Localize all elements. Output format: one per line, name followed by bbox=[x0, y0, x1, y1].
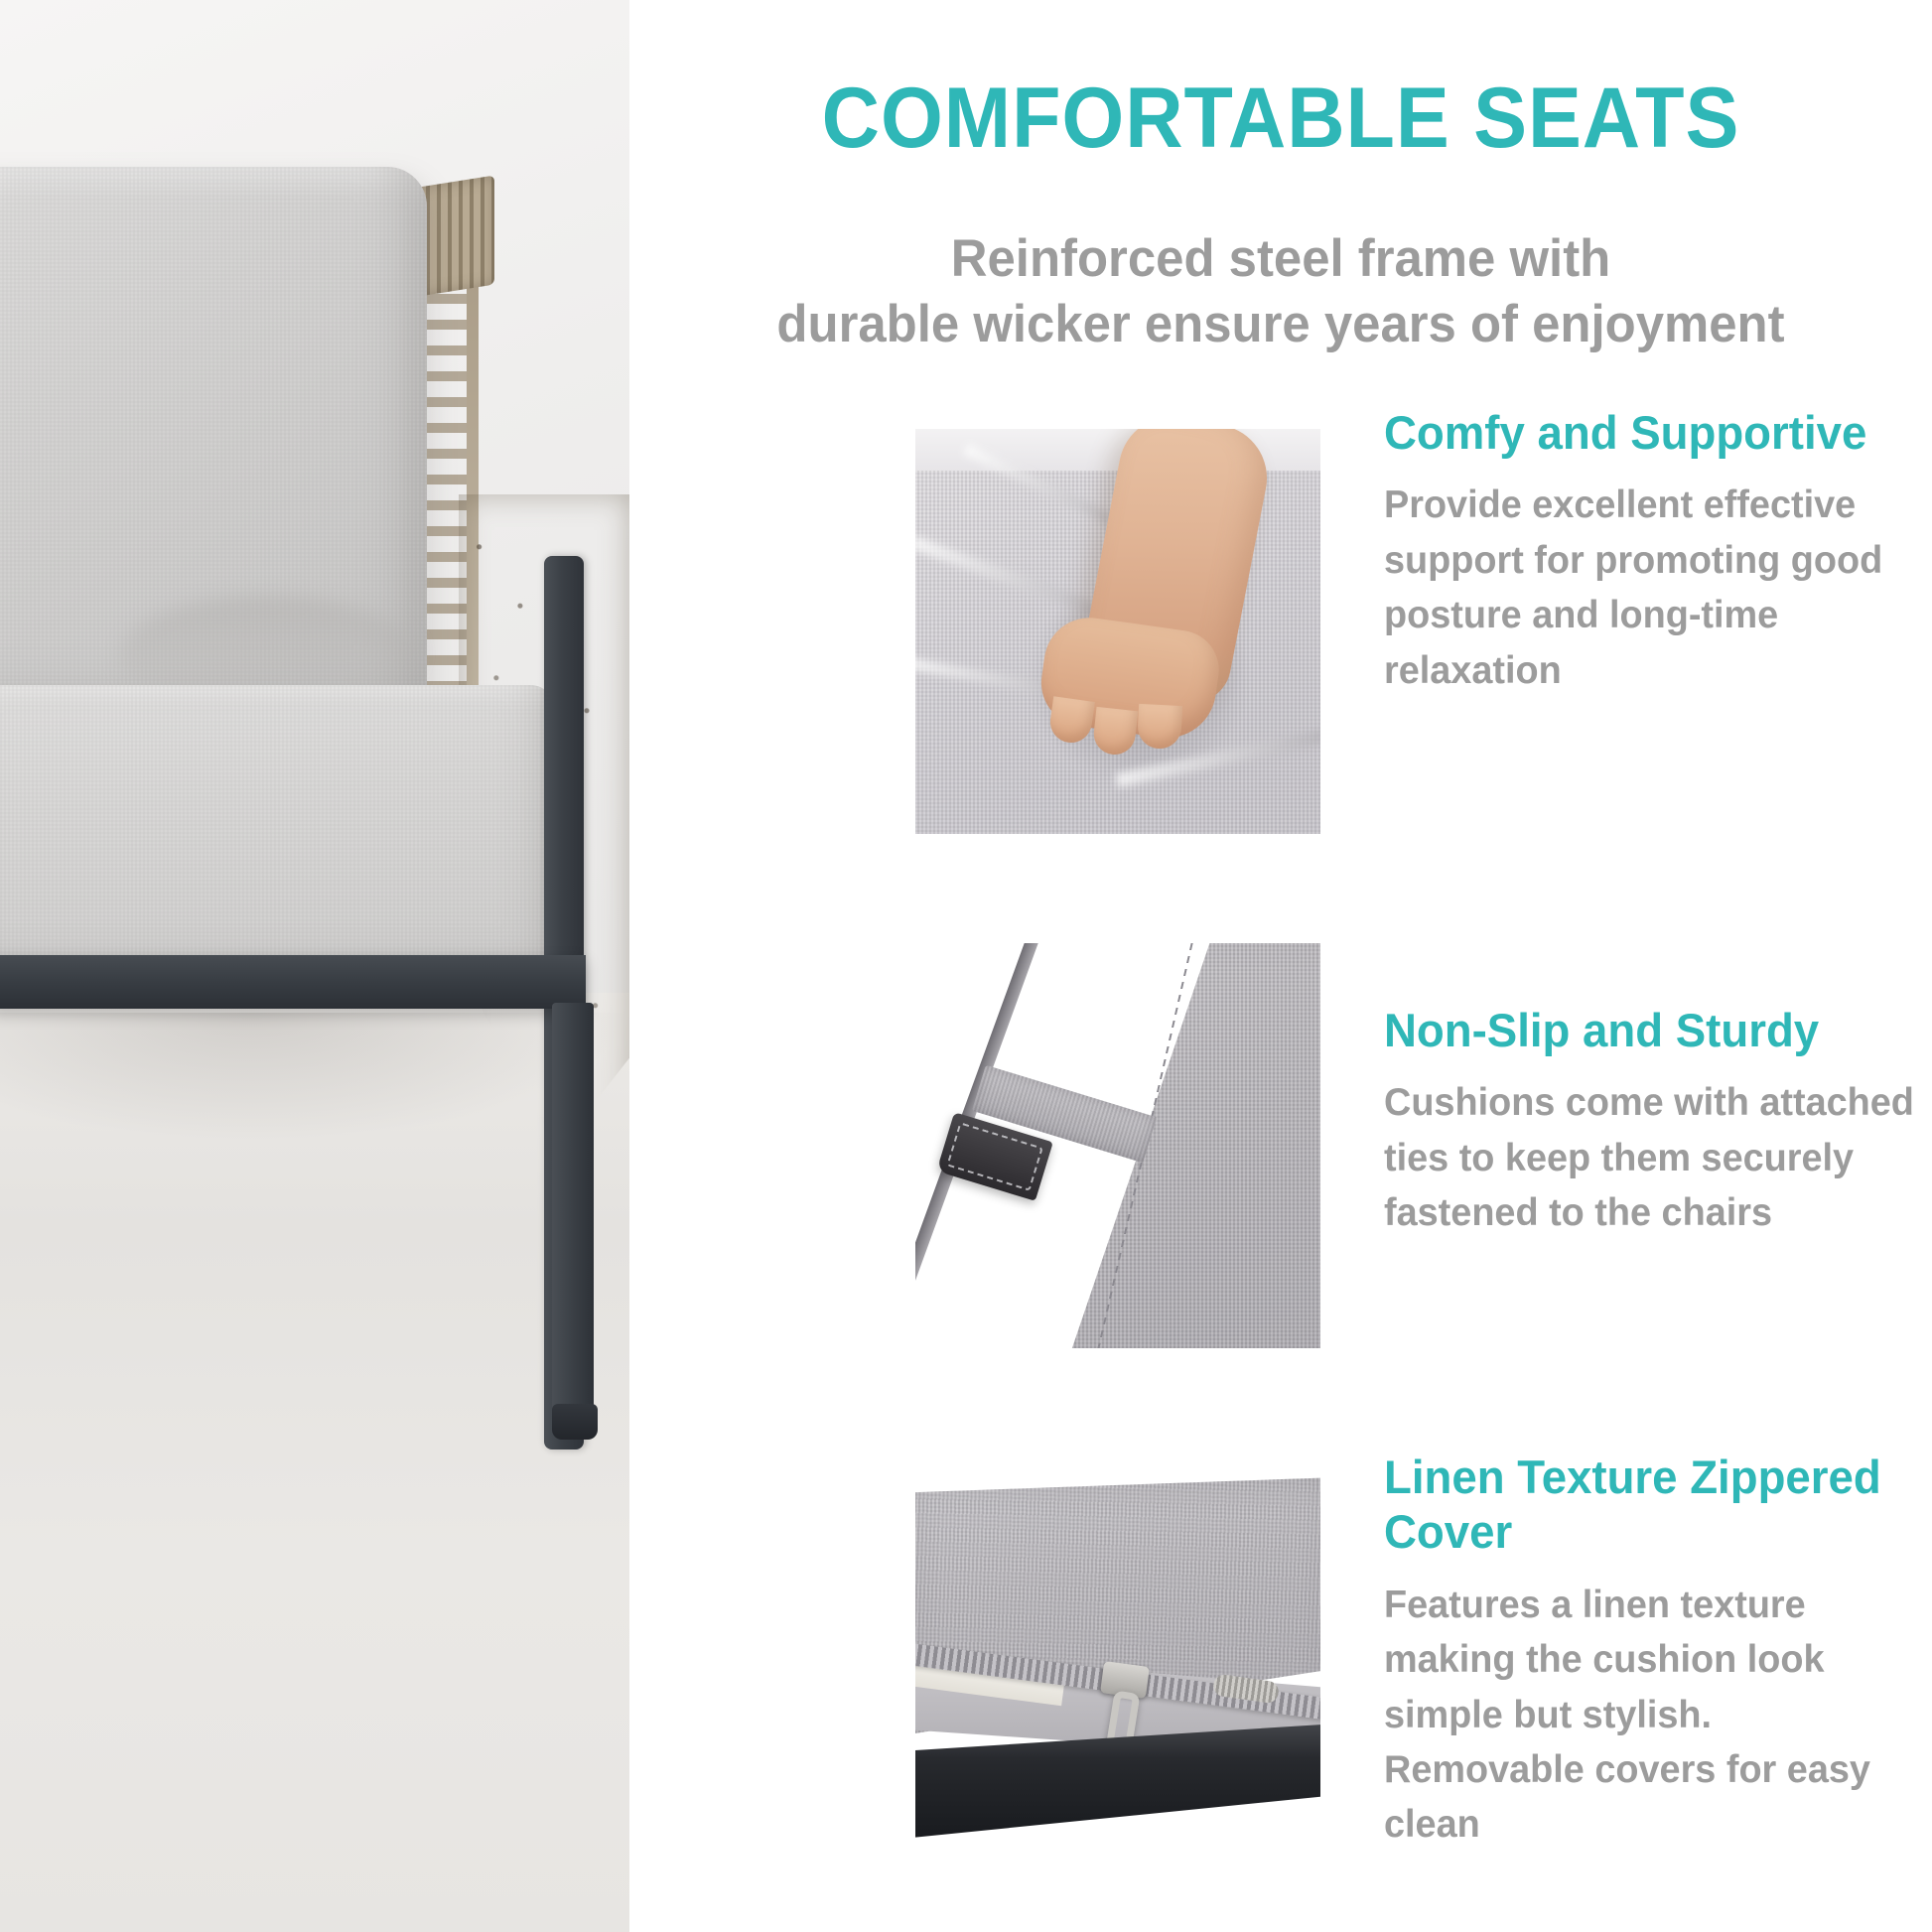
steel-seat-rail bbox=[0, 955, 586, 1009]
steel-leg bbox=[552, 1003, 594, 1418]
feature-text-1: Comfy and Supportive Provide excellent e… bbox=[1384, 405, 1932, 698]
feature-body-3: Features a linen texture making the cush… bbox=[1384, 1578, 1915, 1853]
seat-cushion bbox=[0, 685, 556, 983]
feature-thumbnail-hand-pressing-cushion bbox=[915, 429, 1320, 834]
feature-heading-2: Non-Slip and Sturdy bbox=[1384, 1003, 1915, 1057]
content-panel: COMFORTABLE SEATS Reinforced steel frame… bbox=[629, 0, 1932, 1932]
feature-body-2: Cushions come with attached ties to keep… bbox=[1384, 1075, 1915, 1240]
page-title: COMFORTABLE SEATS bbox=[668, 75, 1892, 161]
feature-thumbnail-cushion-tie-strap bbox=[915, 943, 1320, 1348]
feature-heading-1: Comfy and Supportive bbox=[1384, 405, 1915, 460]
feature-text-3: Linen Texture Zippered Cover Features a … bbox=[1384, 1449, 1932, 1853]
infographic-canvas: COMFORTABLE SEATS Reinforced steel frame… bbox=[0, 0, 1932, 1932]
main-product-photo bbox=[0, 0, 629, 1932]
steel-foot-pad bbox=[552, 1404, 598, 1440]
feature-heading-3: Linen Texture Zippered Cover bbox=[1384, 1449, 1915, 1560]
feature-text-2: Non-Slip and Sturdy Cushions come with a… bbox=[1384, 1003, 1932, 1241]
feature-thumbnail-zippered-cover bbox=[915, 1467, 1320, 1872]
subtitle-line-1: Reinforced steel frame with bbox=[694, 226, 1868, 292]
feature-body-1: Provide excellent effective support for … bbox=[1384, 478, 1915, 698]
page-subtitle: Reinforced steel frame with durable wick… bbox=[694, 226, 1868, 356]
subtitle-line-2: durable wicker ensure years of enjoyment bbox=[694, 292, 1868, 357]
